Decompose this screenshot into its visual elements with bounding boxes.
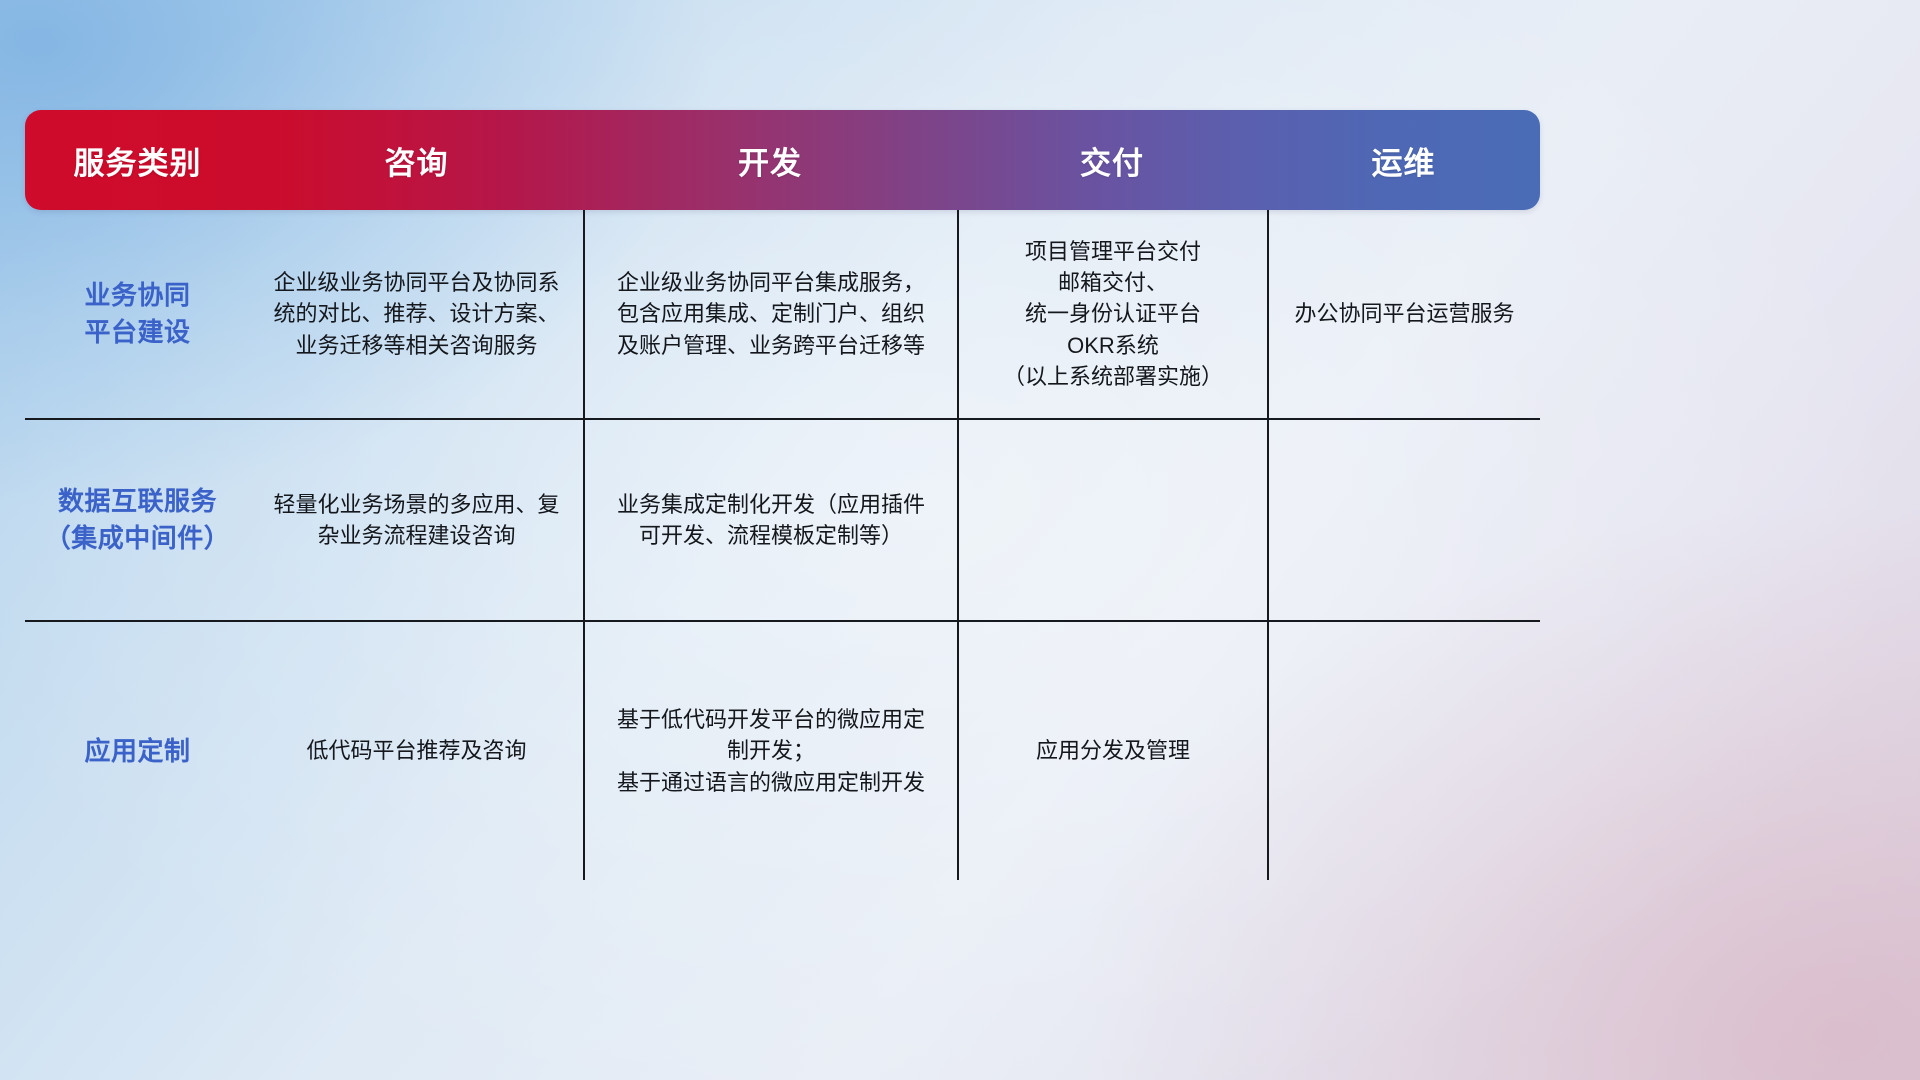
row-category-label: 业务协同 平台建设 (25, 210, 250, 418)
row-category-label: 数据互联服务 （集成中间件） (25, 420, 250, 620)
table-header-row: 服务类别 咨询 开发 交付 运维 (25, 110, 1540, 210)
cell-consulting: 轻量化业务场景的多应用、复 杂业务流程建设咨询 (250, 420, 583, 620)
service-category-table: 服务类别 咨询 开发 交付 运维 业务协同 平台建设 企业级业务协同平台及协同系… (25, 110, 1540, 776)
column-header-delivery: 交付 (957, 138, 1267, 183)
column-header-development: 开发 (583, 138, 957, 183)
cell-delivery: 项目管理平台交付 邮箱交付、 统一身份认证平台 OKR系统 （以上系统部署实施） (957, 210, 1267, 418)
table-row: 数据互联服务 （集成中间件） 轻量化业务场景的多应用、复 杂业务流程建设咨询 业… (25, 418, 1540, 620)
table-row: 应用定制 低代码平台推荐及咨询 基于低代码开发平台的微应用定 制开发； 基于通过… (25, 620, 1540, 880)
cell-development: 业务集成定制化开发（应用插件 可开发、流程模板定制等） (583, 420, 957, 620)
cell-operations (1267, 622, 1540, 880)
cell-development: 企业级业务协同平台集成服务， 包含应用集成、定制门户、组织 及账户管理、业务跨平… (583, 210, 957, 418)
cell-operations: 办公协同平台运营服务 (1267, 210, 1540, 418)
slide-canvas: 服务类别 咨询 开发 交付 运维 业务协同 平台建设 企业级业务协同平台及协同系… (0, 0, 1920, 1080)
cell-delivery: 应用分发及管理 (957, 622, 1267, 880)
row-category-label: 应用定制 (25, 622, 250, 880)
cell-delivery (957, 420, 1267, 620)
column-header-consulting: 咨询 (250, 138, 583, 183)
column-header-service-category: 服务类别 (25, 138, 250, 183)
table-body: 业务协同 平台建设 企业级业务协同平台及协同系 统的对比、推荐、设计方案、 业务… (25, 210, 1540, 880)
column-header-operations: 运维 (1267, 138, 1540, 183)
cell-development: 基于低代码开发平台的微应用定 制开发； 基于通过语言的微应用定制开发 (583, 622, 957, 880)
cell-consulting: 低代码平台推荐及咨询 (250, 622, 583, 880)
cell-consulting: 企业级业务协同平台及协同系 统的对比、推荐、设计方案、 业务迁移等相关咨询服务 (250, 210, 583, 418)
table-row: 业务协同 平台建设 企业级业务协同平台及协同系 统的对比、推荐、设计方案、 业务… (25, 210, 1540, 418)
cell-operations (1267, 420, 1540, 620)
